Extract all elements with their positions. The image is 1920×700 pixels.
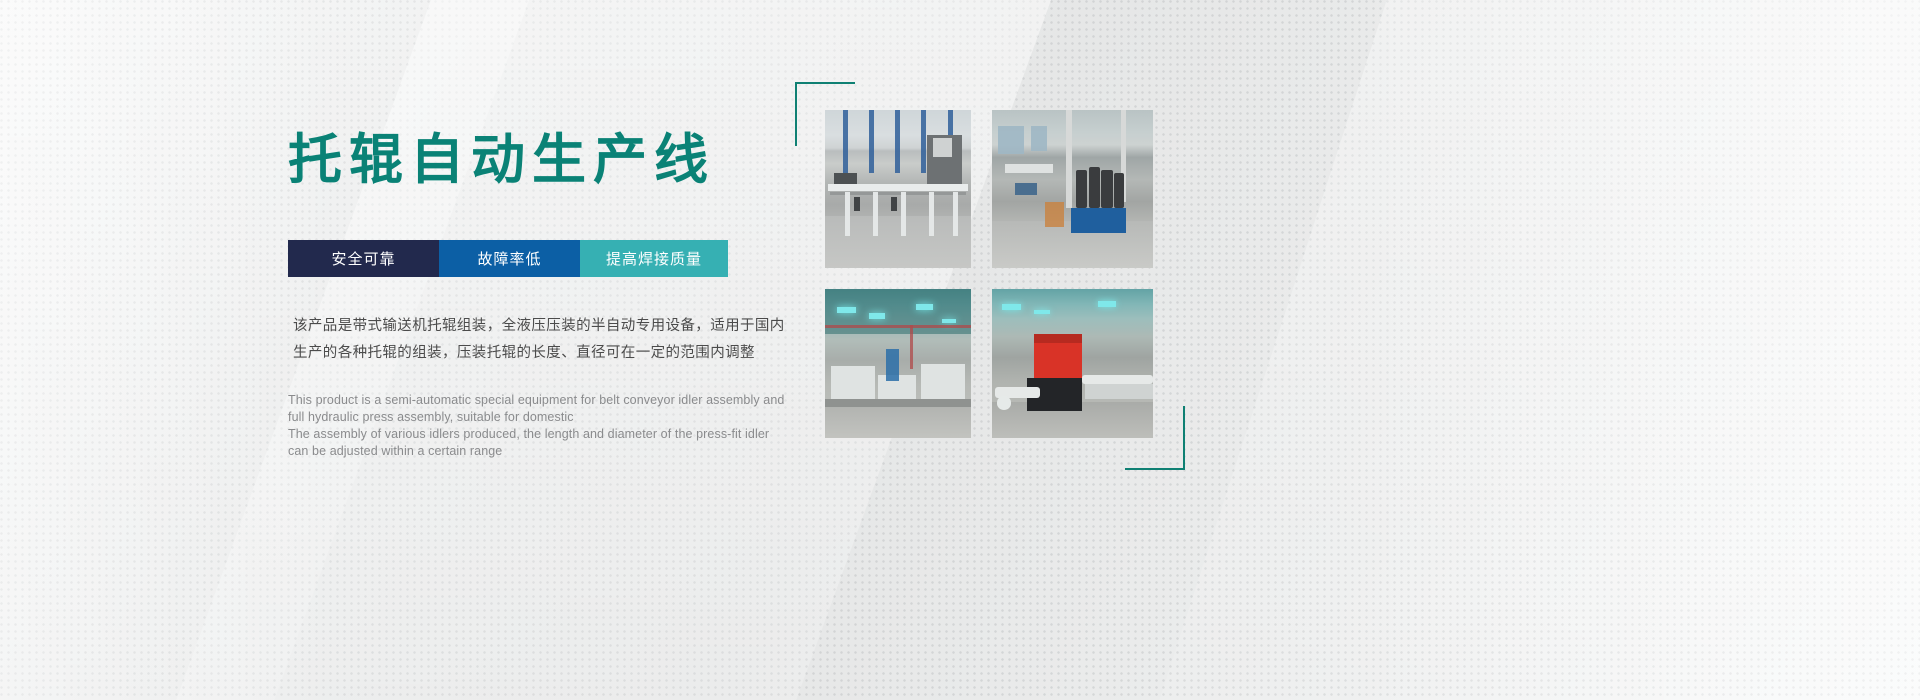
description-english: This product is a semi-automatic special… [288,392,758,460]
feature-badge-group: 安全可靠 故障率低 提高焊接质量 [288,240,758,277]
banner-stage: 托辊自动生产线 安全可靠 故障率低 提高焊接质量 该产品是带式输送机托辊组装，全… [0,0,1920,700]
description-english-line-1: This product is a semi-automatic special… [288,392,758,409]
badge-improved-weld-quality[interactable]: 提高焊接质量 [580,240,728,277]
description-chinese-line-2: 生产的各种托辊的组装，压装托辊的长度、直径可在一定的范围内调整 [293,340,758,367]
description-chinese-line-1: 该产品是带式输送机托辊组装，全液压压装的半自动专用设备，适用于国内 [293,313,758,340]
gallery-photo-4[interactable] [992,289,1153,438]
badge-low-failure-rate[interactable]: 故障率低 [439,240,580,277]
photo-gallery [825,110,1153,438]
badge-safe-reliable[interactable]: 安全可靠 [288,240,439,277]
gallery-photo-1[interactable] [825,110,971,268]
background-light-sweep-right [1068,0,1920,700]
gallery-photo-2[interactable] [992,110,1153,268]
description-english-line-3: The assembly of various idlers produced,… [288,426,758,443]
gallery-photo-3[interactable] [825,289,971,438]
description-english-line-2: full hydraulic press assembly, suitable … [288,409,758,426]
banner-copy: 托辊自动生产线 安全可靠 故障率低 提高焊接质量 该产品是带式输送机托辊组装，全… [288,133,758,460]
description-chinese: 该产品是带式输送机托辊组装，全液压压装的半自动专用设备，适用于国内 生产的各种托… [293,313,758,367]
description-english-line-4: can be adjusted within a certain range [288,443,758,460]
page-title: 托辊自动生产线 [288,133,758,187]
